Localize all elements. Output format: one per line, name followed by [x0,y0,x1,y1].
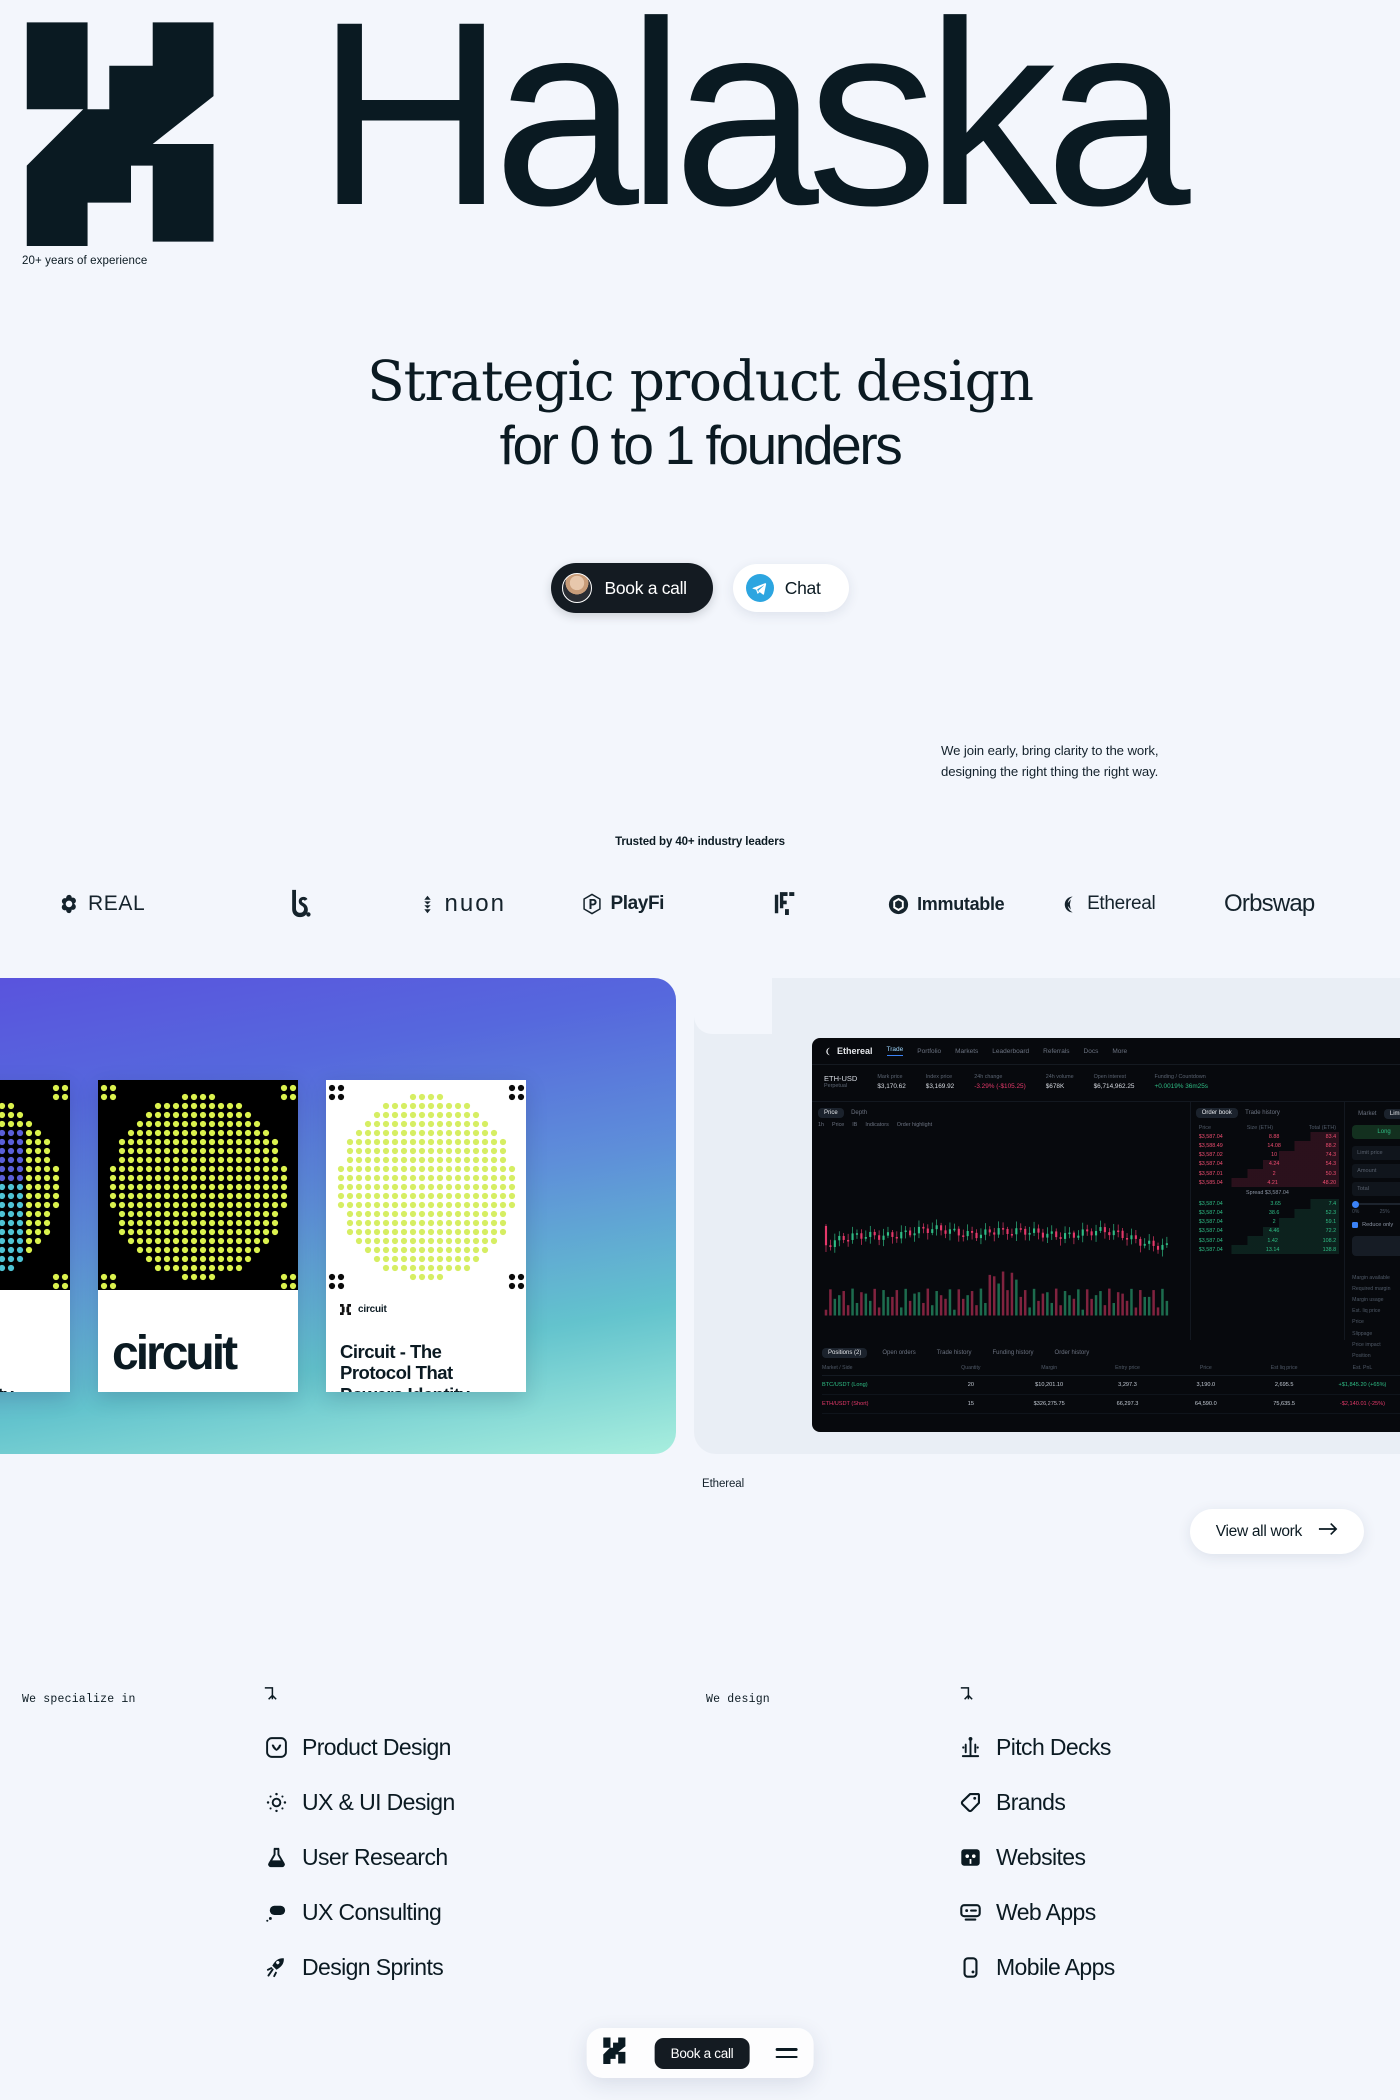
service-product-design[interactable]: Product Design [264,1720,455,1775]
order-tab-limit[interactable]: Limit [1384,1109,1400,1119]
client-logo-immutable: Immutable [866,894,1028,915]
summary-row: Position- [1352,1350,1400,1361]
orderbook-row: $3,587.01250.3 [1196,1169,1339,1178]
work-card-ethereal[interactable]: Ethereal Trade Portfolio Markets Leaderb… [694,978,1400,1454]
positions-table-header: Market / SideQuantityMarginEntry pricePr… [822,1365,1400,1376]
dashboard-nav-portfolio[interactable]: Portfolio [917,1048,941,1055]
service-design-sprints[interactable]: Design Sprints [264,1940,455,1995]
chart-tool-indicators[interactable]: Indicators [865,1122,888,1128]
service-label: UX & UI Design [302,1789,455,1816]
pitch-deck-icon [958,1736,982,1760]
tag-icon [958,1791,982,1815]
orderbook-row: $3,587.0438.652.3 [1196,1209,1339,1218]
f-block-icon [774,891,796,917]
market-pair-label: ETH-USD [824,1074,857,1083]
client-logo-real: REAL [58,892,220,916]
service-websites[interactable]: Websites [958,1830,1115,1885]
place-order-button[interactable]: Place order [1352,1236,1400,1256]
orderbook-spread: Spread $3,587.04 [1196,1187,1339,1199]
avatar [562,573,592,603]
client-logo-orbswap: Orbswap [1189,890,1351,918]
chart-tool-interval[interactable]: 1h [818,1122,824,1128]
orderbook-row: $3,587.044.2454.3 [1196,1160,1339,1169]
poster-art [326,1080,526,1290]
floating-nav: Book a call [587,2028,814,2078]
orderbook-row: $3,588.4914.0888.2 [1196,1141,1339,1150]
orderbook-row: $3,587.021074.3 [1196,1151,1339,1160]
positions-table-body: BTC/USDT (Long)20$10,201.103,297.33,190.… [822,1376,1400,1414]
positions-tab-order-history[interactable]: Order history [1049,1348,1096,1358]
orderbook-row: $3,585.044.2148.20 [1196,1178,1339,1187]
headline-line-1: Strategic product design [0,352,1400,411]
client-logo-label: REAL [88,892,145,916]
rocket-icon [264,1956,288,1980]
circuit-poster-3: circuit Circuit - The Protocol That Powe… [326,1080,526,1392]
service-label: Pitch Decks [996,1734,1111,1761]
stat-funding: Funding / Countdown+0.0019% 36m25s [1154,1074,1207,1092]
services-left-list: Product Design UX & UI Design User Resea… [264,1720,455,1995]
candlestick-chart [818,1131,1184,1321]
dashboard-brand: Ethereal [824,1046,873,1056]
brand-wordmark: Halaska [316,12,1179,216]
stat-mark-price: Mark price$3,170.62 [877,1074,905,1092]
service-pitch-decks[interactable]: Pitch Decks [958,1720,1115,1775]
client-logo-label: Ethereal [1087,893,1155,915]
client-logo-strip: REAL nuon PlayFi Immutable Ethereal [0,888,1400,920]
real-clover-icon [58,893,80,915]
service-label: Mobile Apps [996,1954,1115,1981]
service-label: Design Sprints [302,1954,443,1981]
orderbook-bids: $3,587.043.657.4$3,587.0438.652.3$3,587.… [1196,1199,1339,1254]
poster-meta: circuit [98,1290,298,1392]
client-logo-ethereal: Ethereal [1027,893,1189,915]
floating-book-a-call-button[interactable]: Book a call [655,2038,750,2069]
summary-row: Price impactEst. 0.02% [1352,1339,1400,1350]
dashboard-nav-leaderboard[interactable]: Leaderboard [992,1048,1029,1055]
field-amount[interactable]: Amount 0.00 [1352,1164,1400,1178]
service-label: Websites [996,1844,1085,1871]
client-logo-nuon: nuon [381,890,543,918]
halaska-h-mark-icon [22,18,240,246]
ethereal-crescent-icon [1060,895,1079,914]
poster-art [98,1080,298,1290]
playfi-hex-icon [582,893,602,915]
arrow-turn-down-icon [262,1686,279,1708]
flask-icon [264,1846,288,1870]
nuon-arrows-icon [418,895,437,914]
orderbook-row: $3,587.048.8883.4 [1196,1132,1339,1141]
orderbook-row: $3,587.0413.14138.8 [1196,1245,1339,1254]
hero-headline: Strategic product design for 0 to 1 foun… [0,352,1400,477]
halaska-h-mark-icon[interactable] [603,2037,629,2069]
summary-row: Est. liq price$1,200.00 [1352,1306,1400,1317]
positions-tab-trade-history[interactable]: Trade history [931,1348,978,1358]
positions-row: ETH/USDT (Short)15$326,275.7566,297.364,… [822,1395,1400,1414]
chart-tool-ib[interactable]: IB [852,1122,857,1128]
arrow-turn-down-icon [958,1686,975,1708]
poster-art [0,1080,70,1290]
summary-row: Slippage- [1352,1328,1400,1339]
dashboard-nav-trade[interactable]: Trade [887,1046,904,1056]
ethereal-caption: Ethereal [702,1478,744,1490]
service-web-apps[interactable]: Web Apps [958,1885,1115,1940]
service-label: UX Consulting [302,1899,441,1926]
immutable-shield-icon [888,894,909,915]
stat-24h-change: 24h change-3.29% (-$105.25) [974,1074,1026,1092]
poster-brand: circuit [0,1304,56,1315]
chat-bubble-icon [264,1901,288,1925]
services-right-label: We design [706,1693,770,1706]
client-logo-label: Orbswap [1224,890,1314,918]
orderbook-row: $3,587.04259.1 [1196,1218,1339,1227]
service-label: Product Design [302,1734,451,1761]
experience-note: 20+ years of experience [22,255,147,267]
dashboard-nav-referrals[interactable]: Referrals [1043,1048,1069,1055]
hero-tagline: We join early, bring clarity to the work… [941,740,1159,783]
orderbook-asks: $3,587.048.8883.4$3,588.4914.0888.2$3,58… [1196,1132,1339,1187]
card-notch [694,978,772,1034]
poster-brand-label: circuit [358,1304,387,1315]
dashboard-market-stats: ETH-USD Perpetual Mark price$3,170.62 In… [812,1065,1400,1102]
field-total[interactable]: Total 0.00 [1352,1182,1400,1196]
summary-row: Margin usage- [1352,1294,1400,1305]
client-logo-f [704,891,866,917]
stat-24h-volume: 24h volume$678K [1046,1074,1074,1092]
orderbook-tab-book[interactable]: Order book [1196,1108,1238,1118]
summary-row: Required margin- [1352,1283,1400,1294]
stat-index-price: Index price$3,169.92 [926,1074,954,1092]
tagline-line-2: designing the right thing the right way. [941,761,1159,782]
poster-title: Circuit - The Protocol That Powers Ident… [0,1341,56,1392]
services-right-list: Pitch Decks Brands Websites Web Apps [958,1720,1115,1995]
book-a-call-button[interactable]: Book a call [551,563,712,613]
arrow-right-icon [1318,1522,1338,1541]
service-label: Web Apps [996,1899,1096,1926]
circuit-poster-1: circuit Circuit - The Protocol That Powe… [0,1080,70,1392]
dashboard-nav-more[interactable]: More [1112,1048,1127,1055]
mobile-phone-icon [958,1956,982,1980]
positions-tab-funding-history[interactable]: Funding history [987,1348,1040,1358]
services-section: We specialize in Product Design UX & UI … [0,1680,1400,2010]
dashboard-nav-markets[interactable]: Markets [955,1048,978,1055]
service-ux-ui-design[interactable]: UX & UI Design [264,1775,455,1830]
positions-tab-positions[interactable]: Positions (2) [822,1348,867,1358]
stat-open-interest: Open interest$6,714,962.25 [1094,1074,1135,1092]
dashboard-body: Price Depth 1h Price IB Indicators Order… [812,1102,1400,1340]
view-all-work-button[interactable]: View all work [1190,1509,1364,1554]
u-mark-icon [288,888,313,920]
ethereal-dashboard: Ethereal Trade Portfolio Markets Leaderb… [812,1038,1400,1432]
circuit-poster-2: circuit [98,1080,298,1392]
work-section: circuit Circuit - The Protocol That Powe… [0,978,1400,1478]
service-label: Brands [996,1789,1065,1816]
order-tab-market[interactable]: Market [1352,1109,1382,1119]
client-logo-u [220,888,382,920]
positions-section: Positions (2) Open orders Trade history … [812,1340,1400,1422]
amount-slider[interactable] [1352,1203,1400,1205]
poster-brand: circuit [340,1304,512,1315]
service-user-research[interactable]: User Research [264,1830,455,1885]
work-card-circuit[interactable]: circuit Circuit - The Protocol That Powe… [0,978,676,1454]
poster-meta: circuit Circuit - The Protocol That Powe… [326,1290,526,1392]
dashboard-navbar: Ethereal Trade Portfolio Markets Leaderb… [812,1038,1400,1065]
poster-meta: circuit Circuit - The Protocol That Powe… [0,1290,70,1392]
market-pair[interactable]: ETH-USD Perpetual [824,1074,857,1092]
hamburger-menu-icon[interactable] [775,2043,797,2063]
market-pair-sub: Perpetual [824,1083,857,1089]
orderbook-row: $3,587.043.657.4 [1196,1199,1339,1208]
positions-row: BTC/USDT (Long)20$10,201.103,297.33,190.… [822,1376,1400,1395]
client-logo-playfi: PlayFi [543,893,705,915]
tagline-line-1: We join early, bring clarity to the work… [941,740,1159,761]
field-limit-price[interactable]: Limit price 0.00 [1352,1146,1400,1160]
chat-label: Chat [785,578,821,599]
headline-line-2: for 0 to 1 founders [0,415,1400,477]
order-summary: Margin available$10,000.00Required margi… [1352,1272,1400,1362]
slider-ticks: 0% 25% 50% 75% 100% [1352,1209,1400,1215]
poster-title: circuit [112,1326,284,1382]
ux-ui-design-icon [264,1791,288,1815]
hero-brand-row: Halaska [22,18,1400,258]
view-all-work-label: View all work [1216,1523,1302,1541]
poster-title: Circuit - The Protocol That Powers Ident… [340,1341,512,1392]
client-logo-label: Immutable [917,894,1004,915]
order-book-pane: Order book Trade history Price Size (ETH… [1191,1102,1345,1340]
telegram-icon [746,574,774,602]
service-brands[interactable]: Brands [958,1775,1115,1830]
chart-tool-price[interactable]: Price [832,1122,844,1128]
chart-tab-depth[interactable]: Depth [845,1108,873,1118]
reduce-only-checkbox[interactable]: Reduce only [1352,1222,1400,1228]
client-logo-label: PlayFi [610,893,664,915]
services-left-label: We specialize in [22,1693,136,1706]
hero-cta-row: Book a call Chat [0,563,1400,613]
side-tab-long[interactable]: Long [1352,1125,1400,1139]
dashboard-brand-label: Ethereal [837,1046,873,1056]
orderbook-row: $3,587.044.4672.2 [1196,1227,1339,1236]
client-logo-label: nuon [445,890,506,918]
trusted-by-label: Trusted by 40+ industry leaders [0,836,1400,848]
dashboard-nav-docs[interactable]: Docs [1084,1048,1099,1055]
browser-window-icon [958,1846,982,1870]
orderbook-tab-history[interactable]: Trade history [1239,1108,1286,1118]
service-ux-consulting[interactable]: UX Consulting [264,1885,455,1940]
summary-row: Margin available$10,000.00 [1352,1272,1400,1283]
chart-tool-order-highlight[interactable]: Order highlight [897,1122,932,1128]
price-chart-pane: Price Depth 1h Price IB Indicators Order… [812,1102,1191,1340]
chat-button[interactable]: Chat [733,564,849,612]
summary-row: Price- [1352,1317,1400,1328]
monitor-icon [958,1901,982,1925]
chart-tab-price[interactable]: Price [818,1108,844,1118]
positions-tab-open-orders[interactable]: Open orders [876,1348,921,1358]
book-a-call-label: Book a call [604,578,686,599]
orderbook-row: $3,587.041.42108.2 [1196,1236,1339,1245]
order-form-pane: Market Limit Long Short Limit price 0.00… [1345,1102,1400,1340]
product-design-icon [264,1736,288,1760]
orderbook-header: Price Size (ETH) Total (ETH) [1196,1123,1339,1132]
service-label: User Research [302,1844,448,1871]
service-mobile-apps[interactable]: Mobile Apps [958,1940,1115,1995]
